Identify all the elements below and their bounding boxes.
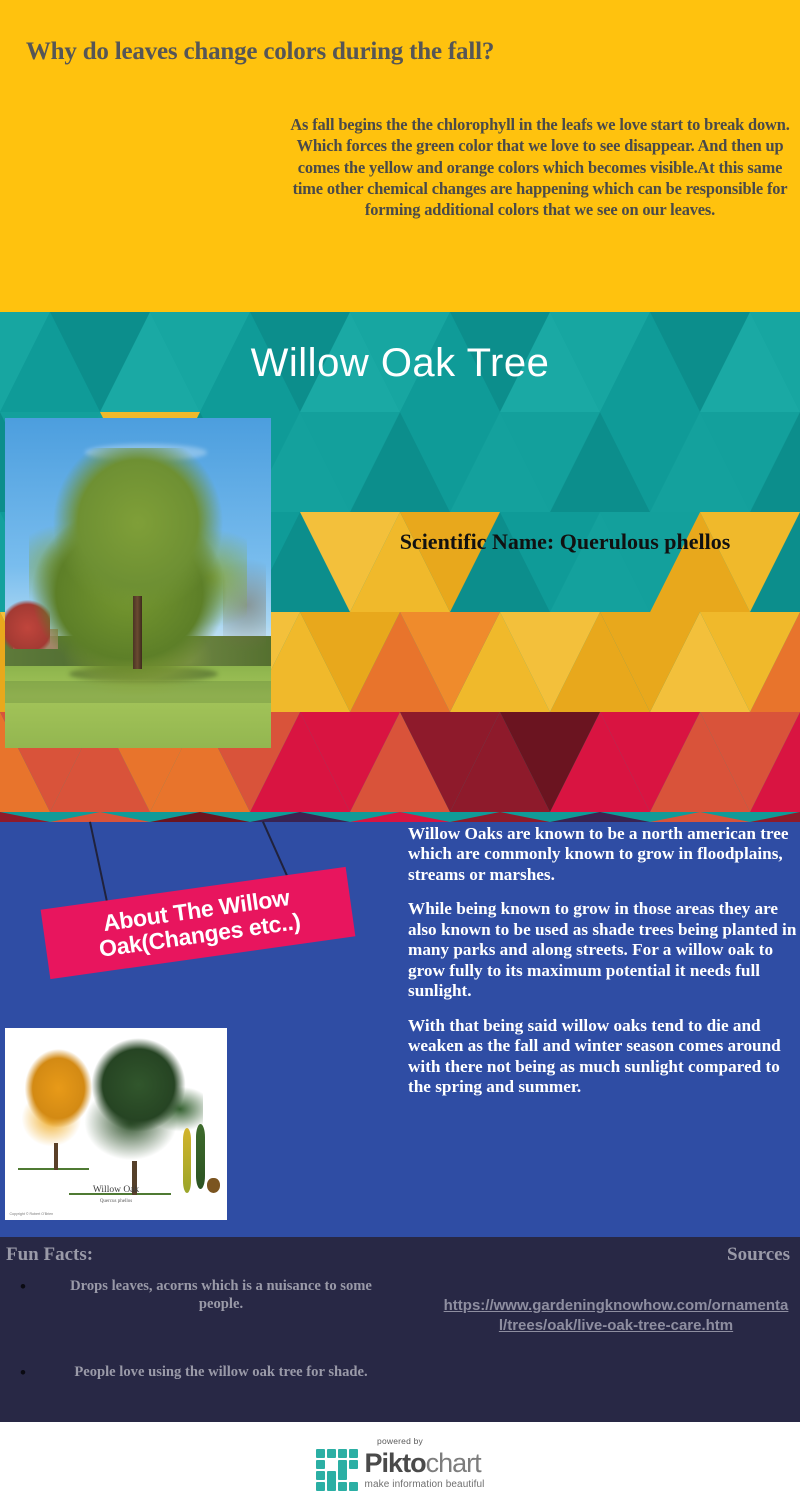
about-paragraph-3: With that being said willow oaks tend to… [408,1016,800,1098]
logo-word-bold: Pikto [365,1448,426,1478]
illustration-common-name: Willow Oak [5,1185,227,1195]
illustration-copyright: Copyright © Robert O'Brien [9,1212,53,1216]
about-paragraph-2: While being known to grow in those areas… [408,899,800,1001]
list-item: Drops leaves, acorns which is a nuisance… [8,1278,388,1314]
fall-tree-trunk [54,1143,58,1170]
logo-tagline: make information beautiful [365,1479,485,1490]
sources-title: Sources [727,1244,790,1266]
header-section: Why do leaves change colors during the f… [0,0,800,312]
infographic-page: Why do leaves change colors during the f… [0,0,800,1504]
powered-by-label: powered by [377,1436,423,1446]
tree-section-title: Willow Oak Tree [0,343,800,383]
header-paragraph: As fall begins the the chlorophyll in th… [290,114,790,221]
fun-facts-list: Drops leaves, acorns which is a nuisance… [8,1278,388,1431]
page-title: Why do leaves change colors during the f… [20,38,500,65]
piktochart-logo-icon [316,1449,358,1491]
branding-footer: powered by Piktochart make inf [0,1422,800,1504]
piktochart-wordmark: Piktochart make information beautiful [365,1450,485,1490]
willow-oak-photo [5,418,271,748]
willow-oak-illustration: Willow Oak Quercus phellos Copyright © R… [5,1028,227,1220]
fun-facts-title: Fun Facts: [6,1244,93,1266]
about-paragraphs: Willow Oaks are known to be a north amer… [408,824,800,1098]
scientific-name: Scientific Name: Querulous phellos [350,527,780,556]
yellow-leaf-icon [183,1128,192,1193]
illustration-scientific-name: Quercus phellos [5,1199,227,1204]
logo-word-light: chart [426,1448,481,1478]
list-item: People love using the willow oak tree fo… [8,1364,388,1382]
tree-trunk [133,596,142,669]
piktochart-logo[interactable]: Piktochart make information beautiful [316,1449,485,1491]
green-leaf-icon [196,1124,205,1189]
source-link[interactable]: https://www.gardeningknowhow.com/ornamen… [440,1296,792,1335]
about-paragraph-1: Willow Oaks are known to be a north amer… [408,824,800,885]
